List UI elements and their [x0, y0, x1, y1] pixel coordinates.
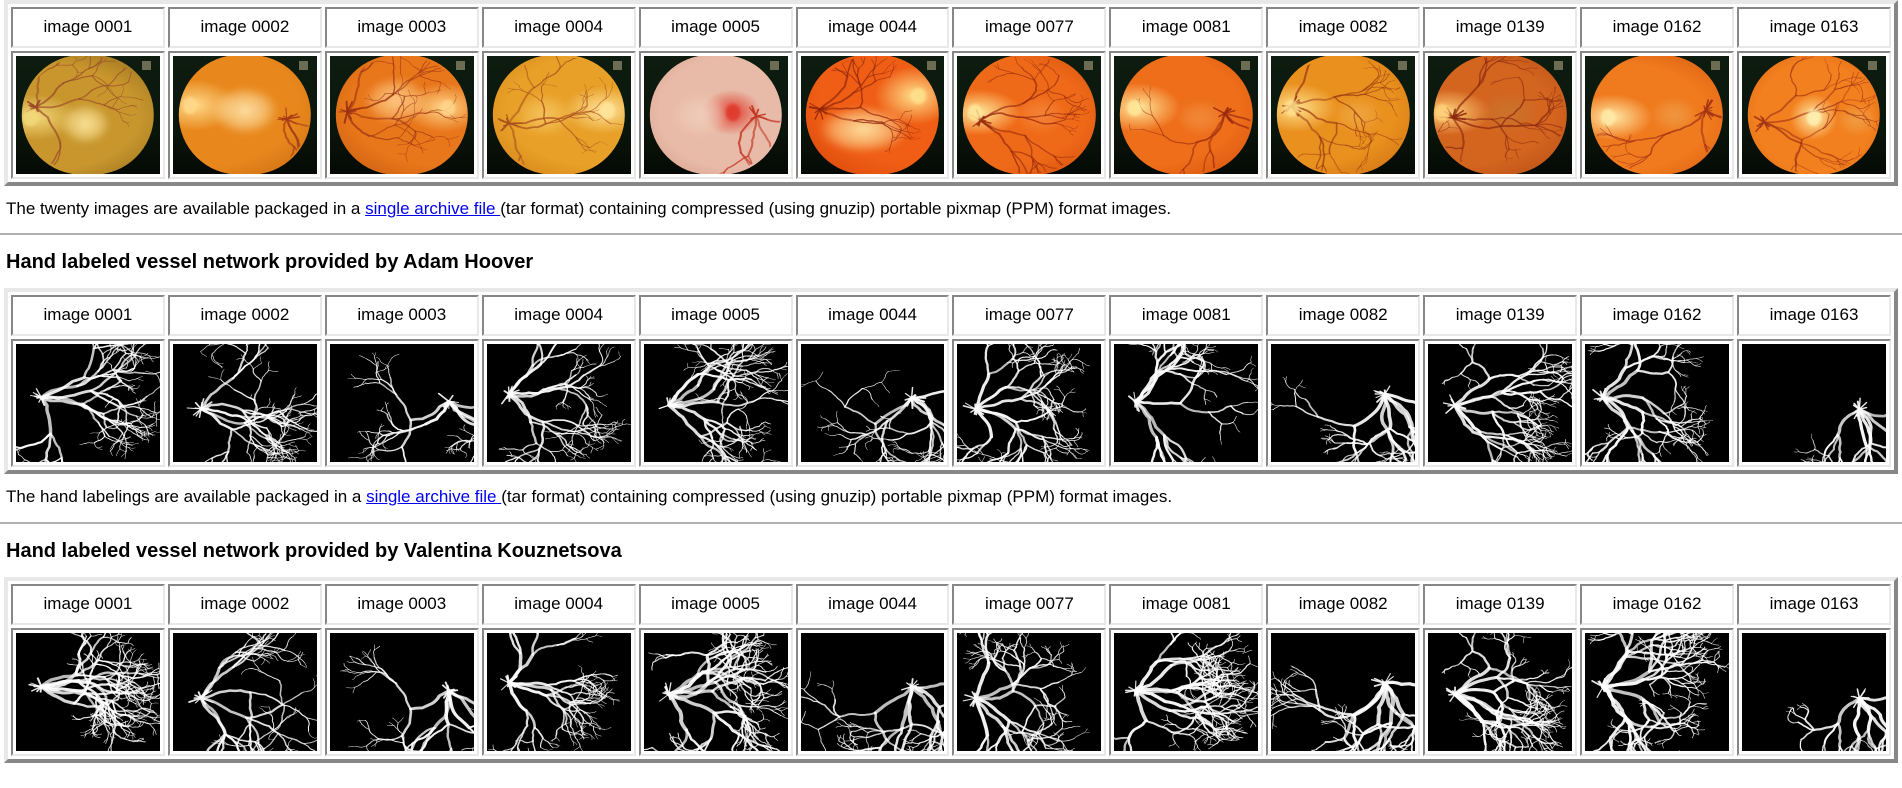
single-archive-file-link[interactable]: single archive file	[366, 487, 501, 506]
thumbnail-cell[interactable]	[639, 339, 793, 467]
heading-hoover: Hand labeled vessel network provided by …	[0, 235, 1902, 288]
column-header-image-0005: image 0005	[639, 584, 793, 625]
corner-marker	[1084, 61, 1093, 70]
column-header-image-0081: image 0081	[1109, 295, 1263, 336]
note-text-before: The twenty images are available packaged…	[6, 199, 365, 218]
vessel-overlay	[330, 56, 474, 174]
vessel-network-thumbnail	[1585, 344, 1729, 462]
page-root: image 0001image 0002image 0003image 0004…	[0, 0, 1902, 763]
archive-note-hoover: The hand labelings are available package…	[0, 474, 1902, 519]
fundus-thumbnail	[1585, 56, 1729, 174]
column-header-image-0004: image 0004	[482, 7, 636, 48]
column-header-image-0082: image 0082	[1266, 295, 1420, 336]
thumbnail-cell[interactable]	[1423, 339, 1577, 467]
vessel-network-thumbnail	[1742, 344, 1886, 462]
thumbnail-cell[interactable]	[11, 628, 165, 756]
corner-marker	[1868, 61, 1877, 70]
vessel-network-drawing	[1742, 344, 1886, 462]
vessel-network-drawing	[330, 633, 474, 751]
vessel-network-drawing	[1742, 633, 1886, 751]
column-header-image-0139: image 0139	[1423, 7, 1577, 48]
thumbnail-cell[interactable]	[1737, 628, 1891, 756]
vessel-network-drawing	[487, 344, 631, 462]
column-header-image-0002: image 0002	[168, 295, 322, 336]
vessel-network-drawing	[16, 344, 160, 462]
vessel-network-thumbnail	[1428, 633, 1572, 751]
column-header-image-0005: image 0005	[639, 7, 793, 48]
thumbnail-cell[interactable]	[1737, 339, 1891, 467]
vessel-overlay	[16, 56, 160, 174]
column-header-image-0081: image 0081	[1109, 584, 1263, 625]
column-header-image-0002: image 0002	[168, 584, 322, 625]
vessel-network-drawing	[330, 344, 474, 462]
thumbnail-cell[interactable]	[1737, 51, 1891, 179]
optic-disc	[726, 104, 740, 121]
thumbnail-cell[interactable]	[168, 628, 322, 756]
note-text-after: (tar format) containing compressed (usin…	[500, 199, 1171, 218]
optic-disc	[1127, 100, 1141, 117]
vessel-overlay	[1428, 56, 1572, 174]
vessel-network-thumbnail	[1428, 344, 1572, 462]
vessel-network-drawing	[1585, 633, 1729, 751]
archive-note-images: The twenty images are available packaged…	[0, 186, 1902, 231]
vessel-network-thumbnail	[644, 344, 788, 462]
thumbnail-cell[interactable]	[639, 628, 793, 756]
retinal-image-table: image 0001image 0002image 0003image 0004…	[4, 0, 1898, 186]
vessel-network-thumbnail	[173, 633, 317, 751]
vessel-network-drawing	[1114, 633, 1258, 751]
column-header-image-0077: image 0077	[952, 584, 1106, 625]
fundus-thumbnail	[1428, 56, 1572, 174]
vessel-network-thumbnail	[957, 633, 1101, 751]
column-header-image-0044: image 0044	[796, 584, 950, 625]
vessel-network-thumbnail	[1271, 344, 1415, 462]
kouznetsova-vessel-table: image 0001image 0002image 0003image 0004…	[4, 577, 1898, 763]
column-header-image-0082: image 0082	[1266, 7, 1420, 48]
thumbnail-cell[interactable]	[1266, 339, 1420, 467]
thumbnail-cell[interactable]	[1423, 628, 1577, 756]
column-header-image-0163: image 0163	[1737, 7, 1891, 48]
vessel-network-thumbnail	[16, 344, 160, 462]
fundus-thumbnail	[644, 56, 788, 174]
thumbnail-cell[interactable]	[639, 51, 793, 179]
thumbnail-cell[interactable]	[1266, 628, 1420, 756]
vessel-network-thumbnail	[330, 633, 474, 751]
corner-marker	[456, 61, 465, 70]
single-archive-file-link[interactable]: single archive file	[365, 199, 500, 218]
corner-marker	[613, 61, 622, 70]
fundus-thumbnail	[487, 56, 631, 174]
thumbnail-cell[interactable]	[325, 628, 479, 756]
thumbnail-cell[interactable]	[325, 51, 479, 179]
vessel-network-thumbnail	[801, 344, 945, 462]
vessel-network-thumbnail	[644, 633, 788, 751]
vessel-network-thumbnail	[487, 633, 631, 751]
thumbnail-cell[interactable]	[1580, 339, 1734, 467]
vessel-network-thumbnail	[487, 344, 631, 462]
vessel-network-thumbnail	[1114, 633, 1258, 751]
vessel-network-drawing	[1271, 633, 1415, 751]
optic-disc	[600, 102, 614, 119]
column-header-image-0001: image 0001	[11, 7, 165, 48]
thumbnail-cell[interactable]	[1109, 628, 1263, 756]
column-header-image-0003: image 0003	[325, 295, 479, 336]
vessel-network-drawing	[173, 344, 317, 462]
column-header-image-0081: image 0081	[1109, 7, 1263, 48]
optic-disc	[23, 109, 37, 126]
corner-marker	[1398, 61, 1407, 70]
vessel-network-thumbnail	[801, 633, 945, 751]
thumbnail-cell[interactable]	[1423, 51, 1577, 179]
vessel-network-drawing	[957, 344, 1101, 462]
column-header-image-0162: image 0162	[1580, 7, 1734, 48]
thumbnail-cell[interactable]	[482, 51, 636, 179]
thumbnail-cell[interactable]	[796, 51, 950, 179]
thumbnail-cell[interactable]	[325, 339, 479, 467]
column-header-image-0001: image 0001	[11, 295, 165, 336]
hoover-vessel-table: image 0001image 0002image 0003image 0004…	[4, 288, 1898, 474]
optic-disc	[911, 88, 925, 105]
fundus-thumbnail	[1271, 56, 1415, 174]
vessel-network-thumbnail	[957, 344, 1101, 462]
column-header-image-0162: image 0162	[1580, 295, 1734, 336]
vessel-network-thumbnail	[16, 633, 160, 751]
vessel-network-drawing	[1114, 344, 1258, 462]
vessel-network-thumbnail	[330, 344, 474, 462]
table-row-labels: image 0001image 0002image 0003image 0004…	[11, 295, 1891, 336]
vessel-network-thumbnail	[1271, 633, 1415, 751]
column-header-image-0139: image 0139	[1423, 584, 1577, 625]
note-text-after: (tar format) containing compressed (usin…	[501, 487, 1172, 506]
column-header-image-0082: image 0082	[1266, 584, 1420, 625]
vessel-network-thumbnail	[173, 344, 317, 462]
thumbnail-cell[interactable]	[952, 51, 1106, 179]
thumbnail-cell[interactable]	[952, 628, 1106, 756]
vessel-network-drawing	[801, 344, 945, 462]
vessel-overlay	[173, 56, 317, 174]
vessel-network-drawing	[644, 633, 788, 751]
thumbnail-cell[interactable]	[1580, 51, 1734, 179]
thumbnail-cell[interactable]	[1109, 51, 1263, 179]
heading-kouznetsova: Hand labeled vessel network provided by …	[0, 524, 1902, 577]
optic-disc	[1807, 109, 1821, 126]
column-header-image-0002: image 0002	[168, 7, 322, 48]
vessel-network-thumbnail	[1585, 633, 1729, 751]
vessel-network-drawing	[16, 633, 160, 751]
column-header-image-0004: image 0004	[482, 584, 636, 625]
column-header-image-0001: image 0001	[11, 584, 165, 625]
vessel-network-thumbnail	[1742, 633, 1886, 751]
vessel-network-drawing	[1428, 633, 1572, 751]
vessel-network-thumbnail	[1114, 344, 1258, 462]
thumbnail-cell[interactable]	[482, 339, 636, 467]
column-header-image-0005: image 0005	[639, 295, 793, 336]
column-header-image-0004: image 0004	[482, 295, 636, 336]
fundus-thumbnail	[1114, 56, 1258, 174]
corner-marker	[299, 61, 308, 70]
thumbnail-cell[interactable]	[796, 628, 950, 756]
thumbnail-cell[interactable]	[11, 51, 165, 179]
table-row-labels: image 0001image 0002image 0003image 0004…	[11, 584, 1891, 625]
fundus-thumbnail	[173, 56, 317, 174]
corner-marker	[770, 61, 779, 70]
optic-disc	[968, 104, 982, 121]
column-header-image-0003: image 0003	[325, 584, 479, 625]
fundus-thumbnail	[16, 56, 160, 174]
thumbnail-cell[interactable]	[168, 51, 322, 179]
thumbnail-cell[interactable]	[952, 339, 1106, 467]
fundus-thumbnail	[957, 56, 1101, 174]
vessel-network-drawing	[957, 633, 1101, 751]
note-text-before: The hand labelings are available package…	[6, 487, 366, 506]
fundus-thumbnail	[1742, 56, 1886, 174]
column-header-image-0044: image 0044	[796, 7, 950, 48]
optic-disc	[1601, 109, 1615, 126]
table-row-images	[11, 51, 1891, 179]
vessel-network-drawing	[1271, 344, 1415, 462]
thumbnail-cell[interactable]	[1580, 628, 1734, 756]
column-header-image-0003: image 0003	[325, 7, 479, 48]
vessel-overlay	[644, 56, 788, 174]
table-row-labels: image 0001image 0002image 0003image 0004…	[11, 7, 1891, 48]
corner-marker	[927, 61, 936, 70]
column-header-image-0077: image 0077	[952, 295, 1106, 336]
vessel-network-drawing	[1428, 344, 1572, 462]
thumbnail-cell[interactable]	[11, 339, 165, 467]
thumbnail-cell[interactable]	[1109, 339, 1263, 467]
vessel-network-drawing	[644, 344, 788, 462]
optic-disc	[183, 97, 197, 114]
thumbnail-cell[interactable]	[168, 339, 322, 467]
vessel-overlay	[801, 56, 945, 174]
thumbnail-cell[interactable]	[796, 339, 950, 467]
table-row-images	[11, 628, 1891, 756]
corner-marker	[142, 61, 151, 70]
fundus-thumbnail	[801, 56, 945, 174]
column-header-image-0044: image 0044	[796, 295, 950, 336]
column-header-image-0163: image 0163	[1737, 584, 1891, 625]
column-header-image-0163: image 0163	[1737, 295, 1891, 336]
vessel-network-drawing	[487, 633, 631, 751]
thumbnail-cell[interactable]	[482, 628, 636, 756]
optic-disc	[441, 100, 455, 117]
column-header-image-0139: image 0139	[1423, 295, 1577, 336]
corner-marker	[1711, 61, 1720, 70]
fundus-thumbnail	[330, 56, 474, 174]
corner-marker	[1554, 61, 1563, 70]
table-row-images	[11, 339, 1891, 467]
column-header-image-0077: image 0077	[952, 7, 1106, 48]
column-header-image-0162: image 0162	[1580, 584, 1734, 625]
optic-disc	[1284, 100, 1298, 117]
thumbnail-cell[interactable]	[1266, 51, 1420, 179]
vessel-network-drawing	[1585, 344, 1729, 462]
vessel-network-drawing	[173, 633, 317, 751]
corner-marker	[1241, 61, 1250, 70]
optic-disc	[1435, 104, 1449, 121]
vessel-network-drawing	[801, 633, 945, 751]
